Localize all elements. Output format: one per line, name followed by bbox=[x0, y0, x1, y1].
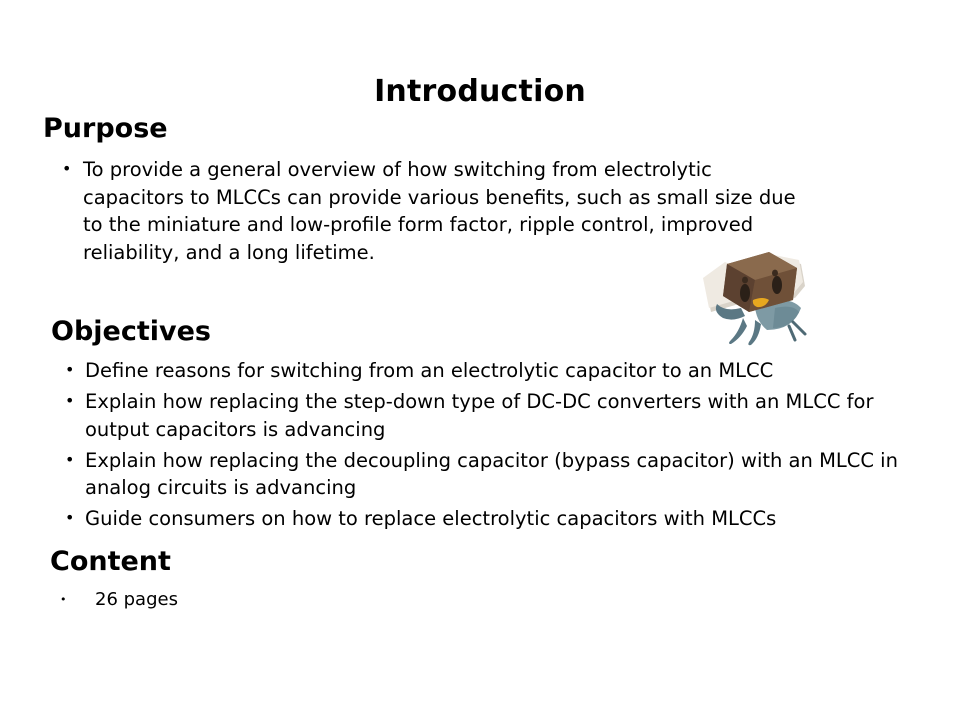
list-item: • Explain how replacing the decoupling c… bbox=[65, 447, 925, 502]
objectives-heading: Objectives bbox=[51, 317, 211, 347]
list-item-text: To provide a general overview of how swi… bbox=[83, 156, 802, 266]
bullet-dot-icon: • bbox=[65, 504, 74, 532]
mlcc-capacitor-character-icon bbox=[697, 242, 811, 346]
purpose-bullet-list: • To provide a general overview of how s… bbox=[62, 156, 802, 266]
list-item: • Define reasons for switching from an e… bbox=[65, 357, 925, 385]
objectives-bullet-list: • Define reasons for switching from an e… bbox=[65, 357, 925, 536]
bullet-dot-icon: • bbox=[62, 155, 71, 183]
list-item-text: Explain how replacing the step-down type… bbox=[85, 388, 925, 443]
list-item: • 26 pages bbox=[60, 588, 460, 612]
content-heading: Content bbox=[50, 547, 171, 577]
purpose-heading: Purpose bbox=[43, 114, 168, 144]
list-item-text: Guide consumers on how to replace electr… bbox=[85, 505, 925, 533]
bullet-dot-icon: • bbox=[65, 446, 74, 474]
list-item: • Guide consumers on how to replace elec… bbox=[65, 505, 925, 533]
list-item-text: 26 pages bbox=[95, 588, 460, 612]
bullet-dot-icon: • bbox=[60, 588, 67, 612]
bullet-dot-icon: • bbox=[65, 387, 74, 415]
slide-canvas: Introduction Purpose • To provide a gene… bbox=[0, 0, 960, 720]
bullet-dot-icon: • bbox=[65, 356, 74, 384]
list-item: • To provide a general overview of how s… bbox=[62, 156, 802, 266]
list-item-text: Explain how replacing the decoupling cap… bbox=[85, 447, 925, 502]
list-item-text: Define reasons for switching from an ele… bbox=[85, 357, 925, 385]
page-title: Introduction bbox=[0, 76, 960, 108]
content-bullet-list: • 26 pages bbox=[60, 588, 460, 612]
list-item: • Explain how replacing the step-down ty… bbox=[65, 388, 925, 443]
